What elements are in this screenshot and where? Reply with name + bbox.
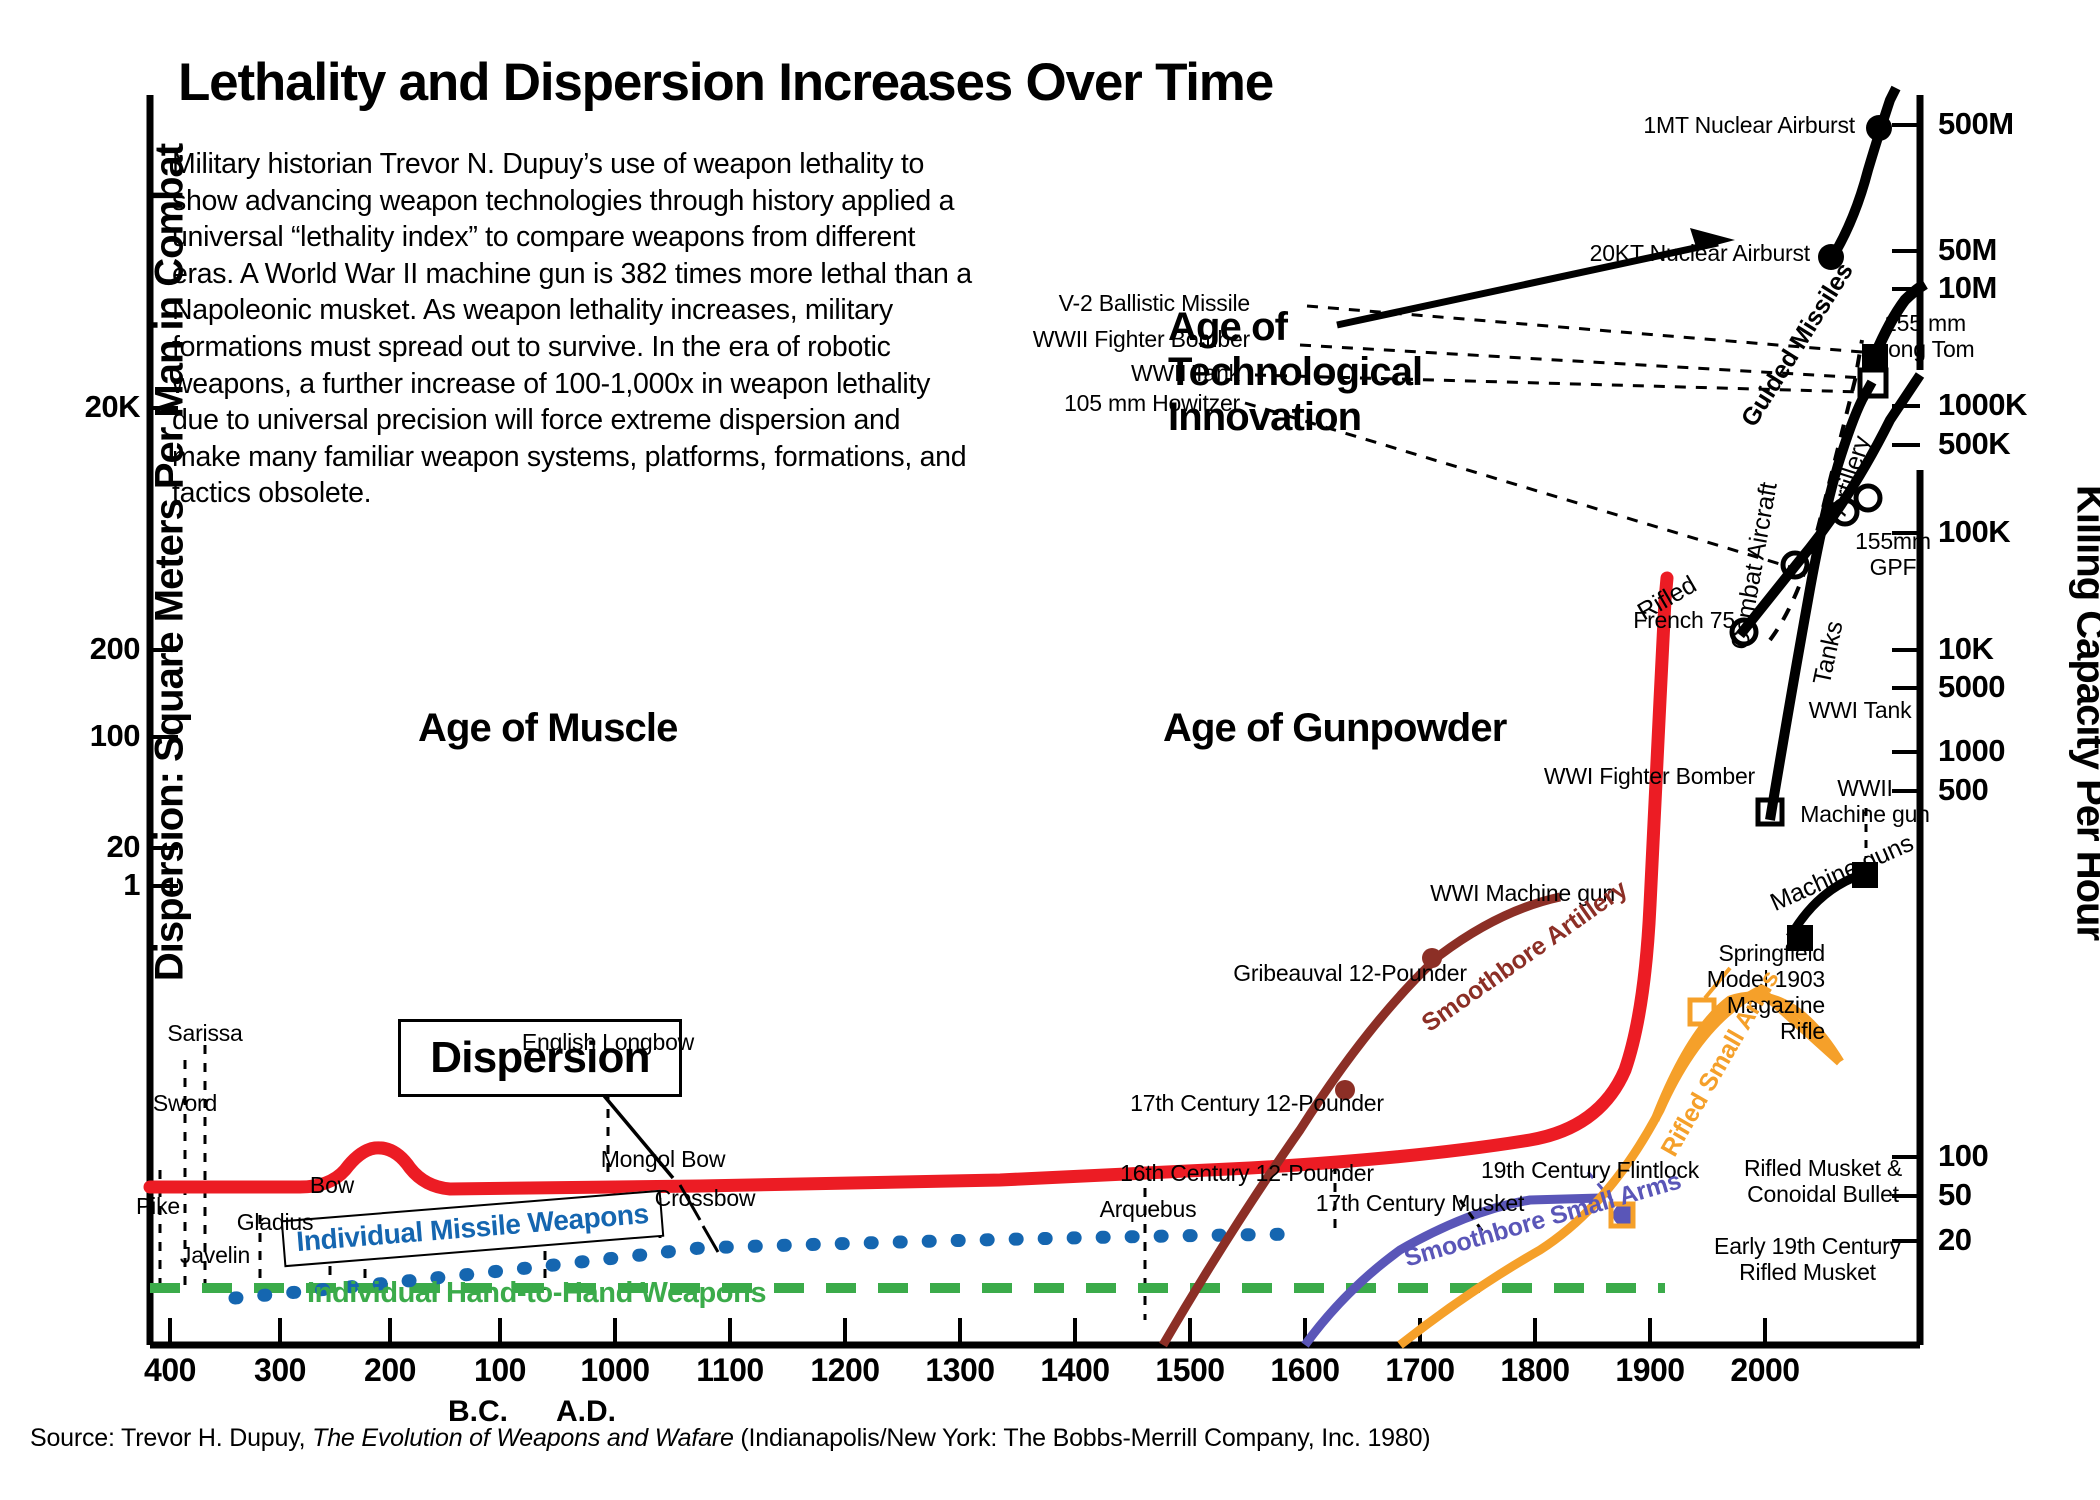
- xtick-200bc: 200: [330, 1352, 450, 1389]
- source-title: The Evolution of Weapons and Wafare: [312, 1424, 734, 1452]
- label-16c-12pounder: 16th Century 12-Pounder: [1082, 1160, 1412, 1186]
- label-springfield-line2: Model 1903: [1640, 966, 1825, 992]
- xtick-1800ad: 1800: [1475, 1352, 1595, 1389]
- ytick-left-1: 1: [20, 867, 140, 903]
- label-wwii-tank: WWII Tank: [1060, 360, 1240, 386]
- label-155gpf-line1: 155mm: [1838, 528, 1948, 554]
- label-longtom-line1: 155 mm: [1860, 310, 1990, 336]
- left-axis-title: Dispersion: Square Meters Per Man in Com…: [148, 63, 193, 1063]
- bottom-tick-marks: [170, 1318, 1765, 1345]
- label-155mm-gpf: 155mm GPF: [1838, 528, 1948, 580]
- label-springfield-line1: Springfield: [1640, 940, 1825, 966]
- source-citation: Source: Trevor H. Dupuy, The Evolution o…: [30, 1424, 1430, 1453]
- xtick-1500ad: 1500: [1130, 1352, 1250, 1389]
- xtick-1300ad: 1300: [900, 1352, 1020, 1389]
- source-prefix: Source: Trevor H. Dupuy,: [30, 1424, 312, 1452]
- label-sarissa: Sarissa: [130, 1020, 280, 1046]
- ytick-right-100k: 100K: [1938, 514, 2010, 550]
- label-flintlock: 19th Century Flintlock: [1420, 1157, 1760, 1183]
- xtick-400bc: 400: [110, 1352, 230, 1389]
- label-wwi-tank: WWI Tank: [1780, 697, 1940, 723]
- xtick-1900ad: 1900: [1590, 1352, 1710, 1389]
- label-longtom-line2: Long Tom: [1860, 336, 1990, 362]
- xtick-1000ad: 1000: [555, 1352, 675, 1389]
- xtick-1700ad: 1700: [1360, 1352, 1480, 1389]
- ytick-right-1000k: 1000K: [1938, 387, 2027, 423]
- label-early19-rifled-musket: Early 19th Century Rifled Musket: [1700, 1233, 1915, 1285]
- ytick-left-20: 20: [20, 829, 140, 865]
- intro-paragraph: Military historian Trevor N. Dupuy’s use…: [172, 146, 972, 512]
- page-title: Lethality and Dispersion Increases Over …: [178, 52, 1273, 113]
- label-gladius: Gladius: [195, 1209, 355, 1235]
- right-axis-title: Killing Capacity Per Hour: [2068, 213, 2100, 1213]
- label-wwii-mg-line1: WWII: [1790, 775, 1940, 801]
- label-v2-ballistic-missile: V-2 Ballistic Missile: [960, 290, 1250, 316]
- label-17c-12pounder: 17th Century 12-Pounder: [1092, 1090, 1422, 1116]
- label-rifled-musket-conoidal: Rifled Musket & Conoidal Bullet: [1718, 1155, 1928, 1207]
- label-wwii-machine-gun: WWII Machine gun: [1790, 775, 1940, 827]
- ytick-right-500: 500: [1938, 772, 1988, 808]
- xtick-1100ad: 1100: [670, 1352, 790, 1389]
- label-english-longbow: English Longbow: [508, 1029, 708, 1055]
- ytick-left-100: 100: [20, 718, 140, 754]
- ytick-right-5000: 5000: [1938, 669, 2005, 705]
- ytick-right-50m: 50M: [1938, 232, 1997, 268]
- label-bow: Bow: [272, 1172, 392, 1198]
- ytick-right-500k: 500K: [1938, 426, 2010, 462]
- label-mongol-bow: Mongol Bow: [573, 1146, 753, 1172]
- label-javelin: Javelin: [145, 1242, 285, 1268]
- label-arquebus: Arquebus: [1068, 1196, 1228, 1222]
- individual-hand-to-hand-label: Individual Hand-to-Hand Weapons: [307, 1277, 766, 1310]
- ytick-right-100: 100: [1938, 1138, 1988, 1174]
- xtick-300bc: 300: [220, 1352, 340, 1389]
- label-wwii-fighter-bomber: WWII Fighter Bomber: [960, 326, 1250, 352]
- crossbow-leader2: [703, 1226, 718, 1252]
- xtick-2000ad: 2000: [1705, 1352, 1825, 1389]
- label-wwi-fighter-bomber: WWI Fighter Bomber: [1500, 763, 1755, 789]
- label-early19-line2: Rifled Musket: [1700, 1259, 1915, 1285]
- label-wwii-mg-line2: Machine gun: [1790, 801, 1940, 827]
- label-sword: Sword: [110, 1090, 260, 1116]
- label-1mt-nuclear-airburst: 1MT Nuclear Airburst: [1430, 112, 1855, 138]
- ytick-right-10k: 10K: [1938, 631, 1993, 667]
- label-20kt-nuclear-airburst: 20KT Nuclear Airburst: [1380, 240, 1810, 266]
- ytick-right-20: 20: [1938, 1222, 1971, 1258]
- xtick-100bc: 100: [440, 1352, 560, 1389]
- label-105mm-howitzer: 105 mm Howitzer: [1020, 390, 1240, 416]
- ytick-right-500m: 500M: [1938, 106, 2014, 142]
- ytick-right-50: 50: [1938, 1177, 1971, 1213]
- label-155mm-long-tom: 155 mm Long Tom: [1860, 310, 1990, 362]
- label-rifled-musket-line1: Rifled Musket &: [1718, 1155, 1928, 1181]
- xtick-1400ad: 1400: [1015, 1352, 1135, 1389]
- marker-1mt: [1866, 115, 1892, 141]
- source-suffix: (Indianapolis/New York: The Bobbs-Merril…: [734, 1424, 1431, 1452]
- ytick-left-20k: 20K: [20, 389, 140, 425]
- xtick-1600ad: 1600: [1245, 1352, 1365, 1389]
- label-early19-line1: Early 19th Century: [1700, 1233, 1915, 1259]
- label-rifled-musket-line2: Conoidal Bullet: [1718, 1181, 1928, 1207]
- era-age-of-muscle: Age of Muscle: [418, 706, 677, 751]
- ytick-left-200: 200: [20, 631, 140, 667]
- xtick-1200ad: 1200: [785, 1352, 905, 1389]
- era-age-of-gunpowder: Age of Gunpowder: [1163, 706, 1506, 751]
- ytick-right-1000: 1000: [1938, 733, 2005, 769]
- ytick-right-10m: 10M: [1938, 270, 1997, 306]
- label-155gpf-line2: GPF: [1838, 554, 1948, 580]
- label-crossbow: Crossbow: [625, 1185, 785, 1211]
